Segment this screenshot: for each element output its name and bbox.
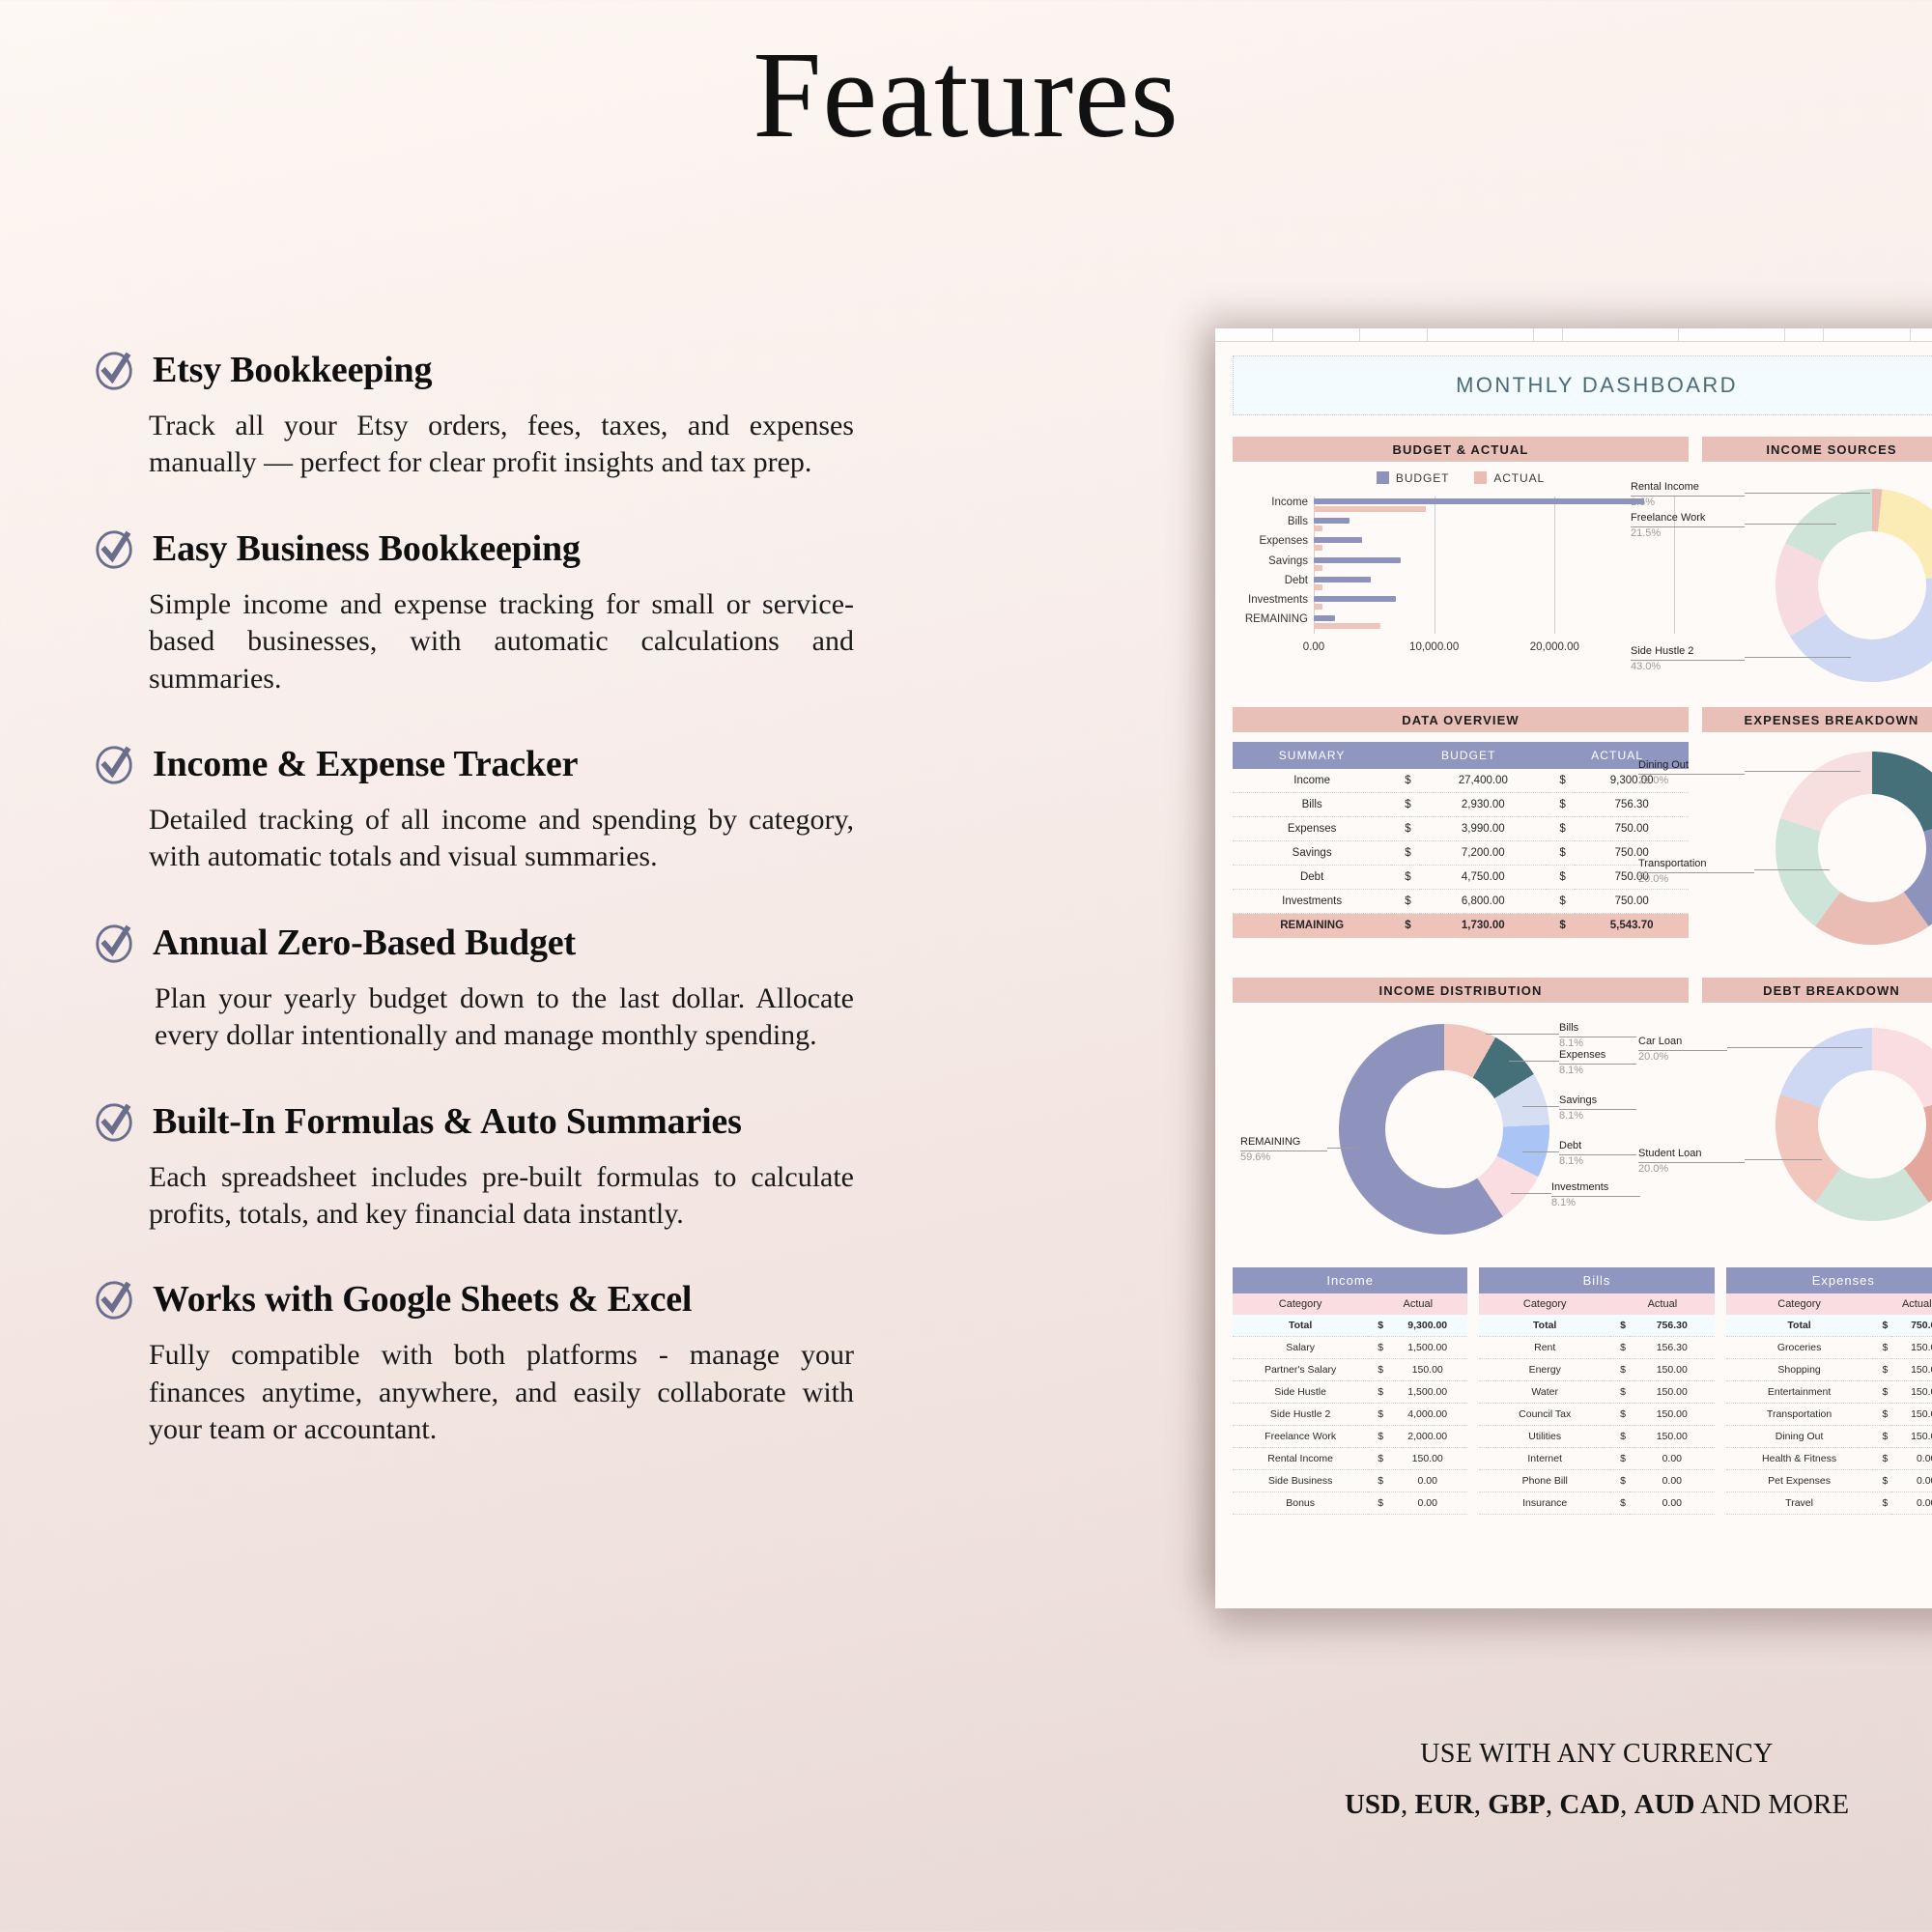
category-cell-value: 750.00 (1891, 1315, 1932, 1337)
category-cell-name: Side Hustle 2 (1233, 1404, 1368, 1426)
table-row[interactable]: Expenses$3,990.00$750.00 (1233, 817, 1689, 841)
category-cell-currency: $ (1873, 1404, 1892, 1426)
category-cell-value: 4,000.00 (1387, 1404, 1467, 1426)
category-table[interactable]: IncomeCategoryActualTotal$9,300.00Salary… (1233, 1267, 1467, 1515)
bar-chart-category-label: Expenses (1259, 535, 1308, 547)
feature-heading: Etsy Bookkeeping (93, 348, 856, 392)
income-dist-label-savings: Savings8.1% (1559, 1094, 1636, 1123)
category-table-caption: Bills (1479, 1267, 1714, 1293)
feature-title: Built-In Formulas & Auto Summaries (153, 1100, 742, 1143)
expenses-breakdown-panel: EXPENSES BREAKDOWN Dining Out20.0% Trans… (1702, 707, 1932, 966)
table-row[interactable]: Side Hustle$1,500.00 (1233, 1381, 1467, 1404)
category-cell-value: 150.00 (1387, 1448, 1467, 1470)
summary-cell-actual-currency: $ (1546, 866, 1575, 890)
debt-label-car-loan: Car Loan20.0% (1638, 1036, 1727, 1065)
dashboard-title-cell: MONTHLY DASHBOARD (1233, 355, 1932, 415)
currency-code: CAD (1559, 1789, 1620, 1820)
check-circle-icon (93, 348, 137, 392)
bar-actual (1314, 565, 1322, 571)
leader-line (1522, 1151, 1559, 1152)
category-cell-name: Transportation (1726, 1404, 1873, 1426)
category-cell-name: Travel (1726, 1492, 1873, 1515)
table-row[interactable]: Internet$0.00 (1479, 1448, 1714, 1470)
leader-line (1754, 869, 1830, 870)
table-row[interactable]: Total$756.30 (1479, 1315, 1714, 1337)
category-tables-row: IncomeCategoryActualTotal$9,300.00Salary… (1233, 1267, 1932, 1515)
summary-col-label: SUMMARY (1233, 742, 1391, 769)
feature-title: Income & Expense Tracker (153, 743, 578, 785)
table-row[interactable]: Partner's Salary$150.00 (1233, 1359, 1467, 1381)
feature-item: Income & Expense Tracker Detailed tracki… (93, 742, 856, 876)
category-cell-currency: $ (1610, 1381, 1630, 1404)
page-title: Features (0, 0, 1932, 163)
category-cell-currency: $ (1610, 1337, 1630, 1359)
debt-breakdown-panel: DEBT BREAKDOWN Car Loan20.0% Student Loa… (1702, 978, 1932, 1254)
bar-budget (1314, 557, 1401, 563)
category-table-header-row: CategoryActual (1726, 1293, 1932, 1315)
income-distribution-band: INCOME DISTRIBUTION (1233, 978, 1689, 1003)
category-cell-name: Side Hustle (1233, 1381, 1368, 1404)
feature-heading: Works with Google Sheets & Excel (93, 1277, 856, 1321)
category-col-category: Category (1726, 1293, 1873, 1315)
summary-cell-label: Income (1233, 769, 1391, 793)
summary-cell-budget: 3,990.00 (1420, 817, 1546, 841)
income-sources-chart: Rental Income1.6% Freelance Work21.5% Si… (1702, 471, 1932, 696)
leader-line (1745, 657, 1851, 658)
bar-chart-row: Investments (1314, 594, 1675, 613)
bar-chart-category-label: Bills (1288, 516, 1308, 527)
currency-headline: USE WITH ANY CURRENCY (1215, 1739, 1932, 1770)
bar-chart-category-label: Savings (1268, 555, 1308, 567)
summary-cell-budget-currency: $ (1391, 841, 1420, 866)
category-cell-value: 150.00 (1387, 1359, 1467, 1381)
category-cell-value: 150.00 (1891, 1359, 1932, 1381)
category-cell-currency: $ (1873, 1426, 1892, 1448)
table-row[interactable]: Insurance$0.00 (1479, 1492, 1714, 1515)
debt-label-student-loan: Student Loan20.0% (1638, 1148, 1745, 1177)
category-cell-name: Partner's Salary (1233, 1359, 1368, 1381)
category-cell-currency: $ (1873, 1315, 1892, 1337)
summary-cell-actual-currency: $ (1546, 817, 1575, 841)
leader-line (1745, 771, 1861, 772)
check-circle-icon (93, 1277, 137, 1321)
table-row[interactable]: Utilities$150.00 (1479, 1426, 1714, 1448)
table-row[interactable]: Salary$1,500.00 (1233, 1337, 1467, 1359)
category-cell-value: 0.00 (1630, 1470, 1715, 1492)
feature-item: Etsy Bookkeeping Track all your Etsy ord… (93, 348, 856, 482)
currency-code: AUD (1634, 1789, 1695, 1820)
bar-actual (1314, 545, 1322, 551)
income-sources-label-freelance: Freelance Work21.5% (1631, 512, 1745, 541)
debt-breakdown-band: DEBT BREAKDOWN (1702, 978, 1932, 1003)
legend-swatch-actual (1474, 471, 1487, 484)
spreadsheet-preview[interactable]: MONTHLY DASHBOARD BUDGET & ACTUAL BUDGET… (1215, 328, 1932, 1608)
income-dist-label-remaining: REMAINING59.6% (1240, 1136, 1327, 1165)
feature-description: Detailed tracking of all income and spen… (149, 802, 854, 876)
data-overview-band: DATA OVERVIEW (1233, 707, 1689, 732)
income-distribution-chart: REMAINING59.6% Bills8.1% Expenses8.1% Sa… (1233, 1012, 1689, 1254)
bar-chart-category-label: Income (1271, 497, 1308, 508)
table-row[interactable]: Health & Fitness$0.00 (1726, 1448, 1932, 1470)
bar-chart-category-label: Investments (1248, 594, 1308, 606)
category-cell-currency: $ (1873, 1492, 1892, 1515)
feature-description: Fully compatible with both platforms - m… (149, 1337, 854, 1448)
category-cell-name: Side Business (1233, 1470, 1368, 1492)
income-sources-band: INCOME SOURCES (1702, 437, 1932, 462)
table-row[interactable]: Phone Bill$0.00 (1479, 1470, 1714, 1492)
dashboard-row-2: DATA OVERVIEW SUMMARY BUDGET ACTUAL Inco… (1233, 707, 1932, 966)
check-circle-icon (93, 1099, 137, 1144)
spreadsheet-column-headers (1215, 328, 1932, 342)
feature-heading: Built-In Formulas & Auto Summaries (93, 1099, 856, 1144)
summary-cell-label: Savings (1233, 841, 1391, 866)
income-dist-label-debt: Debt8.1% (1559, 1140, 1636, 1169)
summary-cell-label: Bills (1233, 793, 1391, 817)
table-row[interactable]: Side Business$0.00 (1233, 1470, 1467, 1492)
expenses-label-dining: Dining Out20.0% (1638, 759, 1745, 788)
category-col-actual: Actual (1610, 1293, 1715, 1315)
summary-cell-actual: 5,543.70 (1575, 914, 1689, 938)
summary-cell-label: REMAINING (1233, 914, 1391, 938)
table-row[interactable]: Energy$150.00 (1479, 1359, 1714, 1381)
category-cell-value: 9,300.00 (1387, 1315, 1467, 1337)
category-cell-currency: $ (1368, 1448, 1387, 1470)
leader-line (1486, 1034, 1559, 1035)
feature-item: Easy Business Bookkeeping Simple income … (93, 526, 856, 697)
category-cell-value: 150.00 (1891, 1381, 1932, 1404)
category-cell-value: 150.00 (1891, 1337, 1932, 1359)
check-circle-icon (93, 526, 137, 571)
table-row[interactable]: Side Hustle 2$4,000.00 (1233, 1404, 1467, 1426)
bar-chart-row: REMAINING (1314, 613, 1675, 633)
category-cell-value: 156.30 (1630, 1337, 1715, 1359)
table-row[interactable]: Shopping$150.00 (1726, 1359, 1932, 1381)
summary-cell-budget: 7,200.00 (1420, 841, 1546, 866)
table-row[interactable]: Total$750.00 (1726, 1315, 1932, 1337)
table-row[interactable]: Council Tax$150.00 (1479, 1404, 1714, 1426)
summary-cell-label: Debt (1233, 866, 1391, 890)
bar-chart-x-tick: 20,000.00 (1530, 641, 1579, 653)
bar-budget (1314, 537, 1362, 543)
feature-heading: Annual Zero-Based Budget (93, 921, 856, 965)
bar-chart-x-axis: 0.0010,000.0020,000.00 (1314, 636, 1675, 661)
income-sources-label-rental: Rental Income1.6% (1631, 481, 1745, 510)
category-cell-name: Bonus (1233, 1492, 1368, 1515)
summary-col-budget: BUDGET (1391, 742, 1546, 769)
category-cell-name: Health & Fitness (1726, 1448, 1873, 1470)
summary-cell-actual-currency: $ (1546, 769, 1575, 793)
summary-cell-budget-currency: $ (1391, 914, 1420, 938)
leader-line (1727, 1047, 1862, 1048)
bar-chart-x-tick: 10,000.00 (1409, 641, 1459, 653)
category-cell-name: Total (1726, 1315, 1873, 1337)
summary-cell-actual-currency: $ (1546, 793, 1575, 817)
budget-actual-bar-chart: IncomeBillsExpensesSavingsDebtInvestment… (1233, 497, 1689, 661)
category-cell-currency: $ (1873, 1448, 1892, 1470)
category-cell-value: 150.00 (1891, 1426, 1932, 1448)
currency-code: USD (1345, 1789, 1401, 1820)
category-cell-currency: $ (1873, 1470, 1892, 1492)
category-table-header-row: CategoryActual (1479, 1293, 1714, 1315)
category-cell-name: Total (1233, 1315, 1368, 1337)
summary-cell-budget: 2,930.00 (1420, 793, 1546, 817)
category-cell-currency: $ (1368, 1337, 1387, 1359)
category-col-category: Category (1479, 1293, 1610, 1315)
dashboard-row-1: BUDGET & ACTUAL BUDGET ACTUAL IncomeBill… (1233, 437, 1932, 696)
table-row[interactable]: Pet Expenses$0.00 (1726, 1470, 1932, 1492)
summary-cell-budget-currency: $ (1391, 769, 1420, 793)
table-row[interactable]: Bills$2,930.00$756.30 (1233, 793, 1689, 817)
leader-line (1745, 1159, 1822, 1160)
category-cell-name: Phone Bill (1479, 1470, 1610, 1492)
category-table-header-row: CategoryActual (1233, 1293, 1467, 1315)
bar-chart-row: Savings (1314, 555, 1675, 575)
summary-cell-actual: 750.00 (1575, 890, 1689, 914)
legend-budget-label: BUDGET (1396, 471, 1449, 485)
category-cell-name: Pet Expenses (1726, 1470, 1873, 1492)
category-cell-value: 150.00 (1630, 1404, 1715, 1426)
summary-cell-budget: 6,800.00 (1420, 890, 1546, 914)
summary-cell-actual: 750.00 (1575, 817, 1689, 841)
summary-cell-budget: 27,400.00 (1420, 769, 1546, 793)
summary-cell-budget: 1,730.00 (1420, 914, 1546, 938)
category-cell-name: Salary (1233, 1337, 1368, 1359)
income-sources-label-sidehustle2: Side Hustle 243.0% (1631, 645, 1745, 674)
currency-footer: USE WITH ANY CURRENCY USD, EUR, GBP, CAD… (1215, 1739, 1932, 1821)
expenses-label-transportation: Transportation20.0% (1638, 858, 1754, 887)
feature-description: Each spreadsheet includes pre-built form… (149, 1159, 854, 1234)
income-distribution-donut (1339, 1024, 1549, 1235)
category-cell-currency: $ (1610, 1315, 1630, 1337)
category-cell-value: 150.00 (1891, 1404, 1932, 1426)
dashboard-row-3: INCOME DISTRIBUTION REMAINING59.6% Bills… (1233, 978, 1932, 1254)
expenses-breakdown-band: EXPENSES BREAKDOWN (1702, 707, 1932, 732)
category-cell-currency: $ (1368, 1315, 1387, 1337)
category-cell-name: Shopping (1726, 1359, 1873, 1381)
table-row[interactable]: Entertainment$150.00 (1726, 1381, 1932, 1404)
summary-cell-budget: 4,750.00 (1420, 866, 1546, 890)
table-row[interactable]: Rent$156.30 (1479, 1337, 1714, 1359)
legend-budget: BUDGET (1377, 471, 1449, 485)
category-cell-value: 0.00 (1387, 1470, 1467, 1492)
bar-chart-legend: BUDGET ACTUAL (1233, 471, 1689, 485)
summary-cell-actual-currency: $ (1546, 890, 1575, 914)
leader-line (1522, 1106, 1559, 1107)
debt-breakdown-chart: Car Loan20.0% Student Loan20.0% (1702, 1012, 1932, 1254)
currency-suffix: AND MORE (1700, 1789, 1849, 1820)
bar-actual (1314, 506, 1426, 512)
category-cell-name: Total (1479, 1315, 1610, 1337)
category-cell-name: Council Tax (1479, 1404, 1610, 1426)
summary-cell-budget-currency: $ (1391, 890, 1420, 914)
category-cell-name: Internet (1479, 1448, 1610, 1470)
category-col-category: Category (1233, 1293, 1368, 1315)
features-list: Etsy Bookkeeping Track all your Etsy ord… (93, 348, 856, 1492)
category-cell-value: 150.00 (1630, 1381, 1715, 1404)
category-cell-value: 2,000.00 (1387, 1426, 1467, 1448)
feature-heading: Easy Business Bookkeeping (93, 526, 856, 571)
category-cell-currency: $ (1610, 1404, 1630, 1426)
expenses-breakdown-chart: Dining Out20.0% Transportation20.0% (1702, 742, 1932, 966)
table-row[interactable]: Dining Out$150.00 (1726, 1426, 1932, 1448)
summary-cell-budget-currency: $ (1391, 793, 1420, 817)
budget-actual-band: BUDGET & ACTUAL (1233, 437, 1689, 462)
category-cell-currency: $ (1368, 1404, 1387, 1426)
category-cell-currency: $ (1610, 1448, 1630, 1470)
bar-budget (1314, 518, 1350, 524)
income-sources-panel: INCOME SOURCES Rental Income1.6% Freelan… (1702, 437, 1932, 696)
category-cell-value: 0.00 (1387, 1492, 1467, 1515)
summary-table-header-row: SUMMARY BUDGET ACTUAL (1233, 742, 1689, 769)
bar-chart-row: Expenses (1314, 535, 1675, 554)
category-cell-name: Water (1479, 1381, 1610, 1404)
currency-codes: USD, EUR, GBP, CAD, AUD AND MORE (1215, 1789, 1932, 1821)
bar-actual (1314, 584, 1322, 590)
bar-budget (1314, 596, 1396, 602)
category-cell-currency: $ (1368, 1381, 1387, 1404)
category-cell-value: 0.00 (1630, 1448, 1715, 1470)
table-row[interactable]: Total$9,300.00 (1233, 1315, 1467, 1337)
category-cell-value: 150.00 (1630, 1426, 1715, 1448)
feature-title: Easy Business Bookkeeping (153, 527, 581, 570)
table-row[interactable]: Water$150.00 (1479, 1381, 1714, 1404)
summary-cell-budget-currency: $ (1391, 817, 1420, 841)
category-table-caption: Expenses (1726, 1267, 1932, 1293)
category-cell-value: 0.00 (1891, 1492, 1932, 1515)
table-row[interactable]: Transportation$150.00 (1726, 1404, 1932, 1426)
leader-line (1745, 524, 1836, 525)
feature-description: Track all your Etsy orders, fees, taxes,… (149, 408, 854, 482)
category-cell-name: Groceries (1726, 1337, 1873, 1359)
category-cell-name: Utilities (1479, 1426, 1610, 1448)
category-cell-name: Rent (1479, 1337, 1610, 1359)
feature-description: Simple income and expense tracking for s… (149, 586, 854, 697)
bar-budget (1314, 577, 1371, 582)
category-cell-value: 756.30 (1630, 1315, 1715, 1337)
category-table[interactable]: ExpensesCategoryActualTotal$750.00Grocer… (1726, 1267, 1932, 1515)
debt-breakdown-donut (1776, 1028, 1932, 1221)
category-cell-currency: $ (1873, 1337, 1892, 1359)
feature-item: Built-In Formulas & Auto Summaries Each … (93, 1099, 856, 1234)
summary-table[interactable]: SUMMARY BUDGET ACTUAL Income$27,400.00$9… (1233, 742, 1689, 938)
category-cell-value: 1,500.00 (1387, 1337, 1467, 1359)
legend-actual: ACTUAL (1474, 471, 1545, 485)
table-row[interactable]: Investments$6,800.00$750.00 (1233, 890, 1689, 914)
income-dist-label-expenses: Expenses8.1% (1559, 1049, 1636, 1078)
feature-title: Etsy Bookkeeping (153, 349, 432, 391)
category-cell-currency: $ (1610, 1359, 1630, 1381)
summary-cell-label: Investments (1233, 890, 1391, 914)
legend-actual-label: ACTUAL (1493, 471, 1545, 485)
category-cell-currency: $ (1368, 1492, 1387, 1515)
category-cell-name: Entertainment (1726, 1381, 1873, 1404)
bar-actual (1314, 604, 1322, 610)
category-col-actual: Actual (1873, 1293, 1932, 1315)
feature-heading: Income & Expense Tracker (93, 742, 856, 786)
check-circle-icon (93, 742, 137, 786)
category-cell-name: Rental Income (1233, 1448, 1368, 1470)
category-table-caption: Income (1233, 1267, 1467, 1293)
category-col-actual: Actual (1368, 1293, 1467, 1315)
table-row[interactable]: Travel$0.00 (1726, 1492, 1932, 1515)
leader-line (1509, 1061, 1559, 1062)
category-cell-currency: $ (1873, 1381, 1892, 1404)
summary-cell-actual-currency: $ (1546, 841, 1575, 866)
category-cell-currency: $ (1873, 1359, 1892, 1381)
summary-cell-actual-currency: $ (1546, 914, 1575, 938)
category-cell-value: 0.00 (1891, 1470, 1932, 1492)
bar-chart-x-tick: 0.00 (1303, 641, 1324, 653)
feature-item: Annual Zero-Based Budget Plan your yearl… (93, 921, 856, 1055)
check-circle-icon (93, 921, 137, 965)
feature-title: Works with Google Sheets & Excel (153, 1278, 692, 1321)
income-sources-donut (1776, 489, 1932, 682)
summary-cell-label: Expenses (1233, 817, 1391, 841)
category-cell-currency: $ (1368, 1359, 1387, 1381)
bar-chart-row: Debt (1314, 575, 1675, 594)
expenses-breakdown-donut (1776, 752, 1932, 945)
summary-cell-budget-currency: $ (1391, 866, 1420, 890)
category-cell-currency: $ (1368, 1470, 1387, 1492)
table-row[interactable]: Groceries$150.00 (1726, 1337, 1932, 1359)
category-cell-currency: $ (1368, 1426, 1387, 1448)
bar-actual (1314, 623, 1380, 629)
feature-item: Works with Google Sheets & Excel Fully c… (93, 1277, 856, 1448)
income-dist-label-investments: Investments8.1% (1551, 1181, 1640, 1210)
table-row[interactable]: Debt$4,750.00$750.00 (1233, 866, 1689, 890)
table-row[interactable]: REMAINING$1,730.00$5,543.70 (1233, 914, 1689, 938)
table-row[interactable]: Rental Income$150.00 (1233, 1448, 1467, 1470)
leader-line (1327, 1148, 1358, 1149)
category-cell-name: Freelance Work (1233, 1426, 1368, 1448)
bar-actual (1314, 526, 1322, 531)
income-distribution-panel: INCOME DISTRIBUTION REMAINING59.6% Bills… (1233, 978, 1689, 1254)
currency-code: GBP (1488, 1789, 1546, 1820)
budget-actual-panel: BUDGET & ACTUAL BUDGET ACTUAL IncomeBill… (1233, 437, 1689, 696)
bar-budget (1314, 615, 1335, 621)
category-cell-currency: $ (1610, 1470, 1630, 1492)
category-cell-name: Dining Out (1726, 1426, 1873, 1448)
table-row[interactable]: Income$27,400.00$9,300.00 (1233, 769, 1689, 793)
bar-chart-category-label: Debt (1285, 575, 1308, 586)
category-cell-currency: $ (1610, 1492, 1630, 1515)
leader-line (1511, 1193, 1551, 1194)
category-cell-name: Insurance (1479, 1492, 1610, 1515)
leader-line (1745, 493, 1870, 494)
category-cell-currency: $ (1610, 1426, 1630, 1448)
table-row[interactable]: Bonus$0.00 (1233, 1492, 1467, 1515)
legend-swatch-budget (1377, 471, 1389, 484)
summary-cell-actual: 756.30 (1575, 793, 1689, 817)
category-cell-value: 150.00 (1630, 1359, 1715, 1381)
feature-description: Plan your yearly budget down to the last… (155, 980, 854, 1055)
category-cell-value: 0.00 (1630, 1492, 1715, 1515)
data-overview-panel: DATA OVERVIEW SUMMARY BUDGET ACTUAL Inco… (1233, 707, 1689, 966)
bar-budget (1314, 498, 1644, 504)
category-cell-value: 0.00 (1891, 1448, 1932, 1470)
table-row[interactable]: Savings$7,200.00$750.00 (1233, 841, 1689, 866)
bar-chart-category-label: REMAINING (1245, 613, 1308, 625)
category-cell-value: 1,500.00 (1387, 1381, 1467, 1404)
dashboard-title: MONTHLY DASHBOARD (1456, 373, 1738, 398)
bar-chart-row: Bills (1314, 516, 1675, 535)
category-cell-name: Energy (1479, 1359, 1610, 1381)
currency-code: EUR (1414, 1789, 1473, 1820)
category-table[interactable]: BillsCategoryActualTotal$756.30Rent$156.… (1479, 1267, 1714, 1515)
table-row[interactable]: Freelance Work$2,000.00 (1233, 1426, 1467, 1448)
bar-chart-row: Income (1314, 497, 1675, 516)
income-dist-label-bills: Bills8.1% (1559, 1022, 1636, 1051)
